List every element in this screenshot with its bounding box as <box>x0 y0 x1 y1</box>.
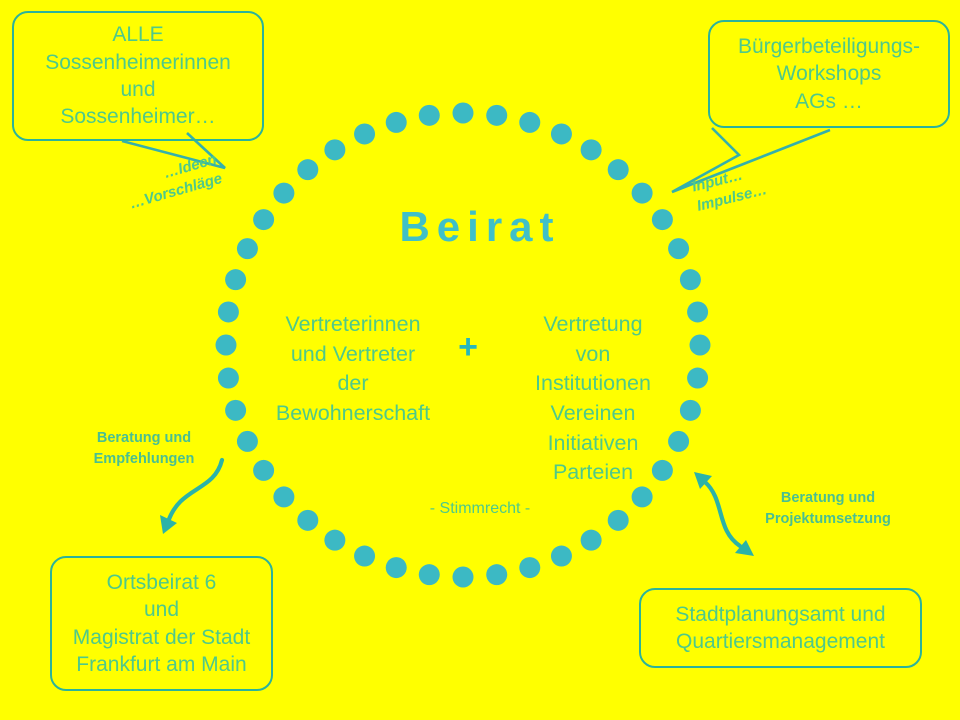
footnote-stimmrecht: - Stimmrecht - <box>380 500 580 518</box>
ring-dot <box>632 183 653 204</box>
col-left-line-3: der <box>268 369 438 399</box>
ring-dot <box>297 510 318 531</box>
ring-dot <box>419 105 440 126</box>
ring-dot <box>486 564 507 585</box>
ring-dot <box>225 400 246 421</box>
center-column-institutionen: Vertretung von Institutionen Vereinen In… <box>510 310 676 488</box>
ring-dot <box>273 183 294 204</box>
arrow-beratung-rechts <box>705 482 740 546</box>
col-left-line-1: Vertreterinnen <box>268 310 438 340</box>
plus-icon: + <box>448 330 488 364</box>
box-stadtplanung-line-2: Quartiersmanagement <box>676 628 885 655</box>
ring-dot <box>324 530 345 551</box>
ring-dot <box>632 486 653 507</box>
box-ortsbeirat-line-3: Magistrat der Stadt <box>73 624 250 651</box>
arrow-beratung-links <box>168 460 222 522</box>
box-buerger-line-1: Bürgerbeteiligungs- <box>738 33 920 60</box>
ring-dot <box>680 269 701 290</box>
box-buerger-line-2: Workshops <box>777 60 882 87</box>
callout-box-buergerbeteiligung[interactable]: Bürgerbeteiligungs- Workshops AGs … <box>708 20 950 128</box>
edge-label-beratung-rechts-line-1: Beratung und <box>742 488 914 509</box>
box-alle-line-2: Sossenheimerinnen <box>45 49 231 76</box>
col-right-line-5: Initiativen <box>510 429 676 459</box>
ring-dot <box>354 123 375 144</box>
edge-label-beratung-links-line-1: Beratung und <box>78 428 210 449</box>
box-stadtplanungsamt[interactable]: Stadtplanungsamt und Quartiersmanagement <box>639 588 922 668</box>
box-ortsbeirat-line-2: und <box>144 596 179 623</box>
col-left-line-2: und Vertreter <box>268 340 438 370</box>
ring-dot <box>581 139 602 160</box>
ring-dot <box>581 530 602 551</box>
ring-dot <box>218 301 239 322</box>
ring-dot <box>519 557 540 578</box>
callout-box-alle[interactable]: ALLE Sossenheimerinnen und Sossenheimer… <box>12 11 264 141</box>
col-right-line-1: Vertretung <box>510 310 676 340</box>
ring-dot <box>551 123 572 144</box>
box-ortsbeirat-line-4: Frankfurt am Main <box>76 651 246 678</box>
ring-dot <box>687 301 708 322</box>
ring-dot <box>218 368 239 389</box>
diagram-canvas: ALLE Sossenheimerinnen und Sossenheimer…… <box>0 0 960 720</box>
ring-dot <box>486 105 507 126</box>
box-ortsbeirat-line-1: Ortsbeirat 6 <box>107 569 217 596</box>
ring-dot <box>273 486 294 507</box>
ring-dot <box>297 159 318 180</box>
box-stadtplanung-line-1: Stadtplanungsamt und <box>675 601 885 628</box>
box-alle-line-1: ALLE <box>112 21 163 48</box>
ring-dot <box>519 112 540 133</box>
edge-label-beratung-rechts-line-2: Projektumsetzung <box>742 509 914 530</box>
ring-dot <box>419 564 440 585</box>
col-right-line-6: Parteien <box>510 458 676 488</box>
ring-dot <box>608 510 629 531</box>
arrowhead-beratung-links <box>160 515 177 534</box>
ring-dot <box>225 269 246 290</box>
ring-dot <box>216 335 237 356</box>
center-column-bewohnerschaft: Vertreterinnen und Vertreter der Bewohne… <box>268 310 438 429</box>
col-right-line-2: von <box>510 340 676 370</box>
box-alle-line-4: Sossenheimer… <box>60 103 215 130</box>
ring-dot <box>453 567 474 588</box>
ring-dot <box>237 431 258 452</box>
ring-dot <box>324 139 345 160</box>
ring-dot <box>253 460 274 481</box>
box-ortsbeirat-magistrat[interactable]: Ortsbeirat 6 und Magistrat der Stadt Fra… <box>50 556 273 691</box>
col-right-line-3: Institutionen <box>510 369 676 399</box>
ring-dot <box>386 557 407 578</box>
ring-dot <box>608 159 629 180</box>
ring-dot <box>680 400 701 421</box>
ring-dot <box>354 546 375 567</box>
box-buerger-line-3: AGs … <box>795 88 863 115</box>
ring-dot <box>453 103 474 124</box>
col-right-line-4: Vereinen <box>510 399 676 429</box>
ring-dot <box>687 368 708 389</box>
ring-dot <box>386 112 407 133</box>
edge-label-beratung-empfehlungen: Beratung und Empfehlungen <box>78 428 210 469</box>
arrowhead-beratung-rechts-up <box>694 472 712 489</box>
col-left-line-4: Bewohnerschaft <box>268 399 438 429</box>
ring-dot <box>551 546 572 567</box>
edge-label-beratung-links-line-2: Empfehlungen <box>78 449 210 470</box>
box-alle-line-3: und <box>120 76 155 103</box>
arrowhead-beratung-rechts-down <box>735 540 754 556</box>
edge-label-beratung-projektumsetzung: Beratung und Projektumsetzung <box>742 488 914 529</box>
ring-dot <box>690 335 711 356</box>
